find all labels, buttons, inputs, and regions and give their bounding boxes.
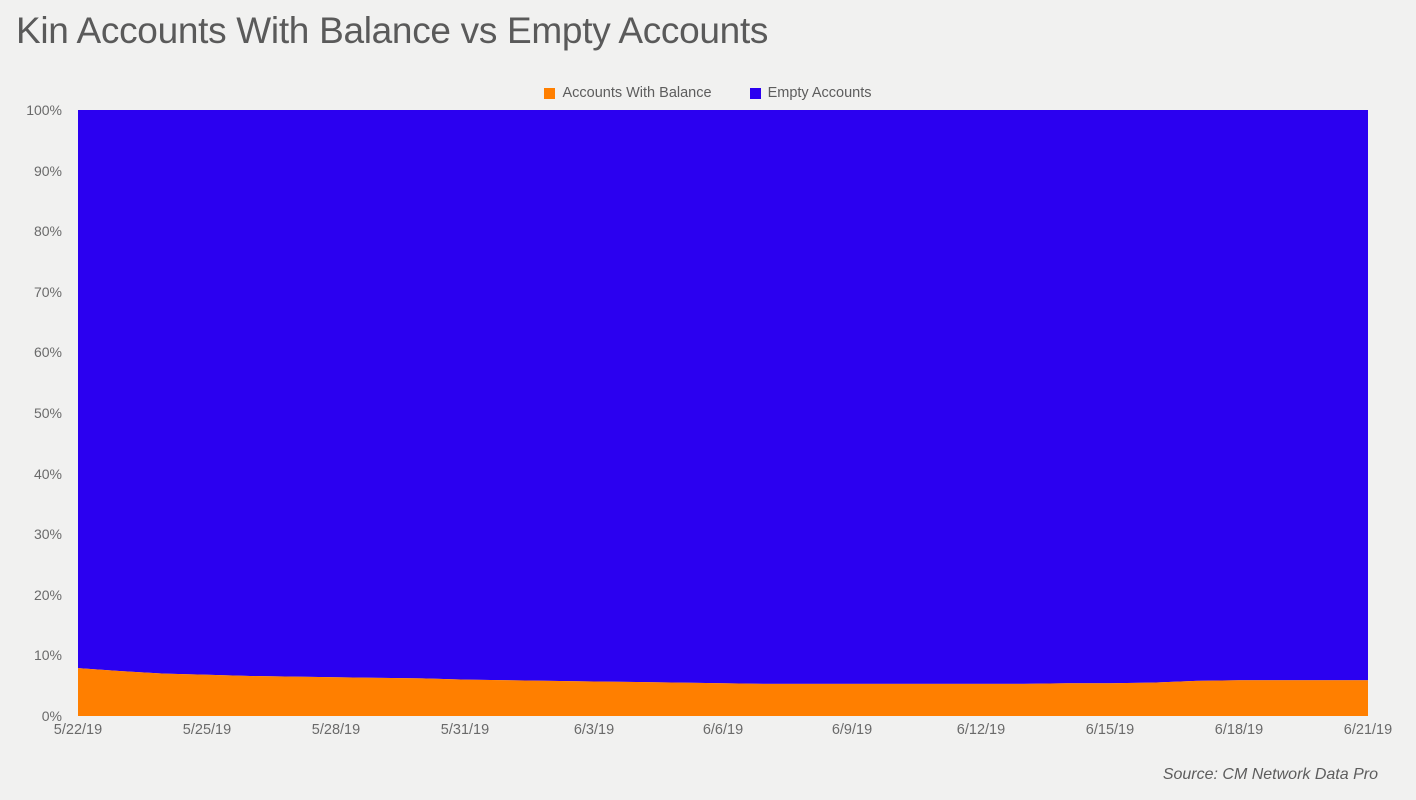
- square-swatch-icon: [544, 88, 555, 99]
- legend-item-label: Empty Accounts: [768, 86, 872, 101]
- area-series-empty-accounts: [78, 110, 1368, 684]
- y-axis-tick-label: 50%: [34, 405, 62, 421]
- stacked-area-chart: [78, 110, 1368, 716]
- y-axis-tick-label: 90%: [34, 163, 62, 179]
- x-axis-tick-label: 6/6/19: [703, 722, 743, 738]
- y-axis-tick-label: 100%: [26, 102, 62, 118]
- y-axis-tick-label: 80%: [34, 223, 62, 239]
- x-axis-tick-label: 5/31/19: [441, 722, 489, 738]
- y-axis: 0%10%20%30%40%50%60%70%80%90%100%: [0, 110, 70, 716]
- page-title: Kin Accounts With Balance vs Empty Accou…: [16, 10, 768, 52]
- x-axis: 5/22/195/25/195/28/195/31/196/3/196/6/19…: [78, 722, 1368, 748]
- x-axis-tick-label: 6/3/19: [574, 722, 614, 738]
- x-axis-tick-label: 6/21/19: [1344, 722, 1392, 738]
- legend-item-accounts-with-balance[interactable]: Accounts With Balance: [544, 86, 711, 101]
- x-axis-tick-label: 5/22/19: [54, 722, 102, 738]
- chart-card: Kin Accounts With Balance vs Empty Accou…: [0, 0, 1416, 800]
- square-swatch-icon: [750, 88, 761, 99]
- x-axis-tick-label: 6/15/19: [1086, 722, 1134, 738]
- x-axis-tick-label: 5/28/19: [312, 722, 360, 738]
- x-axis-tick-label: 6/9/19: [832, 722, 872, 738]
- x-axis-tick-label: 5/25/19: [183, 722, 231, 738]
- y-axis-tick-label: 20%: [34, 587, 62, 603]
- y-axis-tick-label: 40%: [34, 466, 62, 482]
- y-axis-tick-label: 10%: [34, 647, 62, 663]
- y-axis-tick-label: 60%: [34, 344, 62, 360]
- x-axis-tick-label: 6/18/19: [1215, 722, 1263, 738]
- source-note: Source: CM Network Data Pro: [1163, 766, 1378, 784]
- legend-item-label: Accounts With Balance: [562, 86, 711, 101]
- chart-legend: Accounts With Balance Empty Accounts: [0, 86, 1416, 101]
- legend-item-empty-accounts[interactable]: Empty Accounts: [750, 86, 872, 101]
- x-axis-tick-label: 6/12/19: [957, 722, 1005, 738]
- y-axis-tick-label: 30%: [34, 526, 62, 542]
- y-axis-tick-label: 70%: [34, 284, 62, 300]
- plot-area: [78, 110, 1368, 716]
